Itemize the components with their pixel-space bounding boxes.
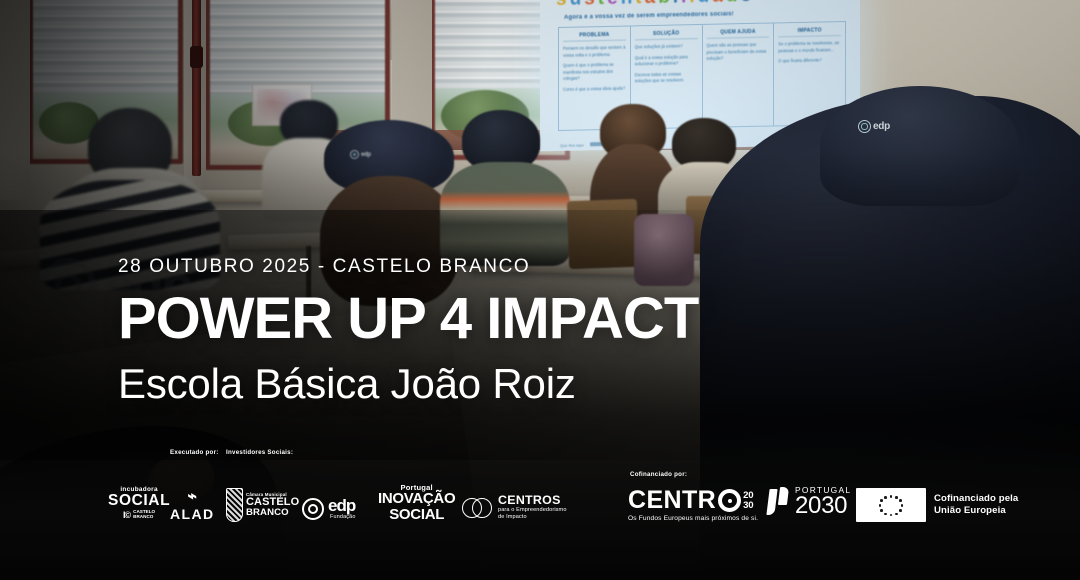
edp-text: edp Fundação: [328, 498, 356, 520]
centros-sub2: de Impacto: [498, 514, 567, 522]
centro-2030-row: CENTR 20 30: [628, 489, 758, 512]
eu-line2: União Europeia: [934, 505, 1018, 517]
event-date-location: 28 OUTUBRO 2025 - CASTELO BRANCO: [118, 256, 878, 278]
logo-european-union: Cofinanciado pela União Europeia: [856, 488, 1018, 522]
poster-canvas: sustentabilidade Agora é a vossa vez de …: [0, 0, 1080, 580]
incubadora-city-line2: BRANCO: [133, 514, 153, 519]
logo-alad: ⌁ ALAD: [170, 489, 214, 522]
logo-centros: CENTROS para o Empreendedorismo de Impac…: [462, 494, 567, 522]
logo-bar: incubadora SOCIAL I© CASTELO BRANCO Exec…: [0, 462, 1080, 580]
caption-cofinanciado-por: Cofinanciado por:: [630, 471, 687, 478]
inovacao-label: INOVAÇÃO: [378, 491, 455, 506]
page-title: POWER UP 4 IMPACT: [118, 290, 878, 348]
page-subtitle: Escola Básica João Roiz: [118, 362, 878, 406]
caption-executado-por: Executado por:: [170, 449, 219, 482]
social-label: SOCIAL: [378, 507, 455, 522]
title-block: 28 OUTUBRO 2025 - CASTELO BRANCO POWER U…: [118, 256, 878, 406]
branco-label: BRANCO: [246, 508, 299, 518]
centro-wordmark: CENTR: [628, 489, 716, 512]
incubadora-city: CASTELO BRANCO: [133, 510, 155, 520]
centros-wordmark: CENTROS: [498, 494, 567, 507]
eu-text: Cofinanciado pela União Europeia: [934, 493, 1018, 516]
centros-sub1: para o Empreendedorismo: [498, 507, 567, 515]
edp-wordmark: edp: [328, 498, 356, 514]
alad-mark-icon: ⌁: [174, 487, 211, 507]
eu-line1: Cofinanciado pela: [934, 493, 1018, 505]
logo-incubadora-social: incubadora SOCIAL I© CASTELO BRANCO: [108, 486, 170, 520]
logo-edp-fundacao: edp Fundação: [302, 498, 356, 520]
edp-spiral-icon: [302, 498, 324, 520]
caption-investidores-sociais: Investidores Sociais:: [226, 449, 293, 482]
logo-centro-2030: CENTR 20 30 Os Fundos Europeus mais próx…: [628, 489, 758, 522]
edp-fundacao-label: Fundação: [330, 514, 356, 520]
incubadora-footer: I© CASTELO BRANCO: [108, 510, 170, 520]
centros-rings-icon: [462, 498, 492, 518]
logo-castelo-branco: Câmara Municipal CASTELO BRANCO: [226, 488, 299, 522]
logo-portugal-inovacao-social: Portugal INOVAÇÃO SOCIAL: [378, 483, 455, 522]
eu-flag-icon: [856, 488, 926, 522]
year-2030-label: 2030: [795, 494, 851, 518]
portugal-2030-text: PORTUGAL 2030: [795, 486, 851, 518]
incubadora-ko-icon: I©: [123, 510, 130, 520]
castle-shield-icon: [226, 488, 243, 522]
logo-portugal-2030: PORTUGAL 2030: [768, 486, 851, 518]
centro-year: 20 30: [743, 491, 753, 510]
alad-wordmark: ALAD: [170, 506, 214, 522]
centros-text: CENTROS para o Empreendedorismo de Impac…: [498, 494, 567, 522]
castelo-branco-text: Câmara Municipal CASTELO BRANCO: [246, 492, 299, 518]
centro-tagline: Os Fundos Europeus mais próximos de si.: [628, 515, 758, 522]
centro-o-icon: [718, 489, 741, 512]
social-label: SOCIAL: [108, 493, 170, 509]
centro-year-bottom: 30: [743, 500, 753, 511]
portugal-flag-icon: [768, 487, 790, 517]
